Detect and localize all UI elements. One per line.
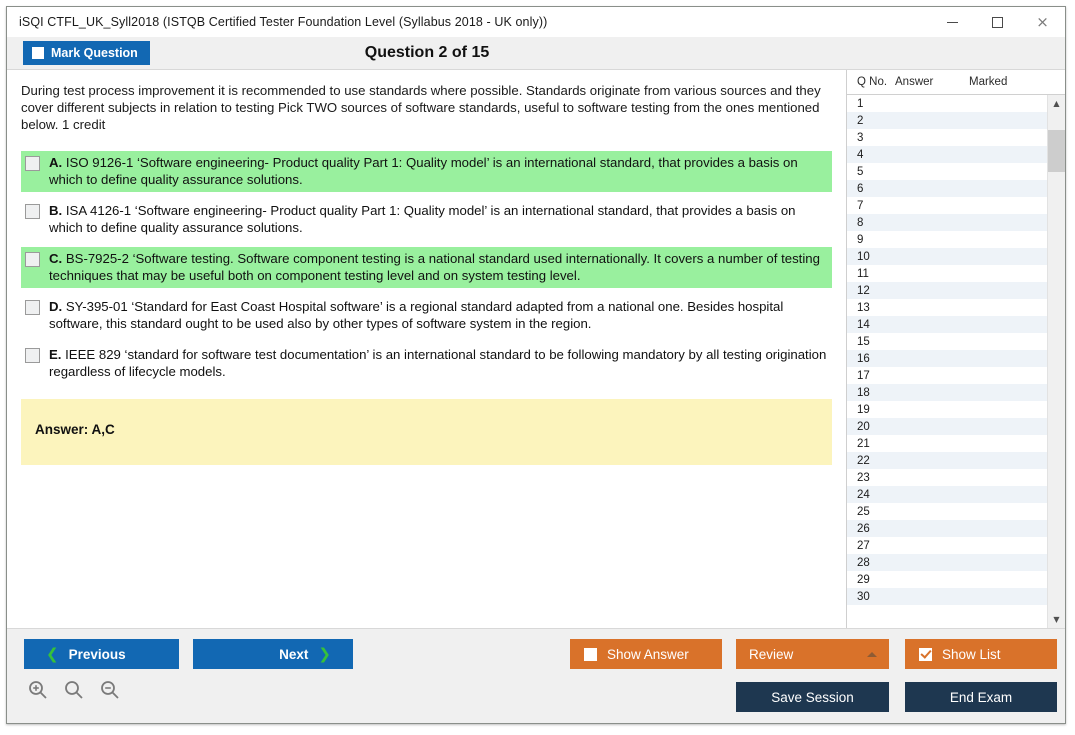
save-session-label: Save Session bbox=[771, 690, 854, 705]
option-a-body: ISO 9126-1 ‘Software engineering- Produc… bbox=[49, 155, 798, 187]
table-row[interactable]: 19 bbox=[847, 401, 1047, 418]
option-e[interactable]: E. IEEE 829 ‘standard for software test … bbox=[21, 343, 832, 384]
scroll-up-arrow-icon[interactable]: ▲ bbox=[1048, 95, 1065, 112]
show-answer-button[interactable]: Show Answer bbox=[570, 639, 722, 669]
table-row[interactable]: 24 bbox=[847, 486, 1047, 503]
cell-question-number: 16 bbox=[847, 353, 895, 365]
table-row[interactable]: 29 bbox=[847, 571, 1047, 588]
cell-question-number: 13 bbox=[847, 302, 895, 314]
show-list-button[interactable]: Show List bbox=[905, 639, 1057, 669]
exam-window: iSQI CTFL_UK_Syll2018 (ISTQB Certified T… bbox=[6, 6, 1066, 724]
question-list-scroll-area: 1234567891011121314151617181920212223242… bbox=[847, 95, 1065, 628]
show-answer-checkbox-icon bbox=[584, 648, 597, 661]
table-row[interactable]: 5 bbox=[847, 163, 1047, 180]
option-b[interactable]: B. ISA 4126-1 ‘Software engineering- Pro… bbox=[21, 199, 832, 240]
cell-question-number: 6 bbox=[847, 183, 895, 195]
option-a[interactable]: A. ISO 9126-1 ‘Software engineering- Pro… bbox=[21, 151, 832, 192]
zoom-tools bbox=[25, 677, 123, 703]
close-glyph: × bbox=[1036, 15, 1049, 30]
cell-question-number: 11 bbox=[847, 268, 895, 280]
cell-question-number: 14 bbox=[847, 319, 895, 331]
table-row[interactable]: 11 bbox=[847, 265, 1047, 282]
question-header-bar: Mark Question Question 2 of 15 bbox=[7, 37, 1065, 69]
page-title: Question 2 of 15 bbox=[7, 44, 1065, 62]
option-c-text: C. BS-7925-2 ‘Software testing. Software… bbox=[49, 250, 828, 284]
question-list-scrollbar[interactable]: ▲ ▼ bbox=[1047, 95, 1065, 628]
show-list-checkbox-icon bbox=[919, 648, 932, 661]
previous-button[interactable]: ❮ Previous bbox=[24, 639, 179, 669]
cell-question-number: 12 bbox=[847, 285, 895, 297]
option-e-text: E. IEEE 829 ‘standard for software test … bbox=[49, 346, 828, 380]
body-area: During test process improvement it is re… bbox=[7, 69, 1065, 628]
cell-question-number: 29 bbox=[847, 574, 895, 586]
option-e-letter: E. bbox=[49, 347, 61, 362]
close-icon[interactable]: × bbox=[1020, 7, 1065, 37]
table-row[interactable]: 18 bbox=[847, 384, 1047, 401]
column-header-marked: Marked bbox=[969, 76, 1065, 88]
option-b-checkbox[interactable] bbox=[25, 204, 40, 219]
question-list-rows: 1234567891011121314151617181920212223242… bbox=[847, 95, 1047, 628]
table-row[interactable]: 21 bbox=[847, 435, 1047, 452]
question-content-pane: During test process improvement it is re… bbox=[7, 70, 846, 628]
table-row[interactable]: 25 bbox=[847, 503, 1047, 520]
column-header-answer: Answer bbox=[895, 76, 969, 88]
cell-question-number: 20 bbox=[847, 421, 895, 433]
option-d-letter: D. bbox=[49, 299, 62, 314]
option-d[interactable]: D. SY-395-01 ‘Standard for East Coast Ho… bbox=[21, 295, 832, 336]
table-row[interactable]: 12 bbox=[847, 282, 1047, 299]
table-row[interactable]: 3 bbox=[847, 129, 1047, 146]
option-c-letter: C. bbox=[49, 251, 62, 266]
minimize-icon[interactable] bbox=[930, 7, 975, 37]
table-row[interactable]: 23 bbox=[847, 469, 1047, 486]
zoom-reset-icon[interactable] bbox=[61, 677, 87, 703]
cell-question-number: 9 bbox=[847, 234, 895, 246]
cell-question-number: 2 bbox=[847, 115, 895, 127]
table-row[interactable]: 2 bbox=[847, 112, 1047, 129]
table-row[interactable]: 10 bbox=[847, 248, 1047, 265]
option-b-letter: B. bbox=[49, 203, 62, 218]
table-row[interactable]: 7 bbox=[847, 197, 1047, 214]
cell-question-number: 24 bbox=[847, 489, 895, 501]
question-list-panel: Q No. Answer Marked 12345678910111213141… bbox=[846, 70, 1065, 628]
table-row[interactable]: 27 bbox=[847, 537, 1047, 554]
table-row[interactable]: 9 bbox=[847, 231, 1047, 248]
table-row[interactable]: 16 bbox=[847, 350, 1047, 367]
option-e-body: IEEE 829 ‘standard for software test doc… bbox=[49, 347, 826, 379]
end-exam-label: End Exam bbox=[950, 690, 1012, 705]
chevron-left-icon: ❮ bbox=[46, 647, 59, 662]
answer-reveal-box: Answer: A,C bbox=[21, 399, 832, 465]
scroll-down-arrow-icon[interactable]: ▼ bbox=[1048, 611, 1065, 628]
footer-toolbar: ❮ Previous Next ❯ Show Answer Review Sho… bbox=[7, 628, 1065, 723]
scrollbar-track[interactable] bbox=[1048, 112, 1065, 611]
cell-question-number: 3 bbox=[847, 132, 895, 144]
cell-question-number: 1 bbox=[847, 98, 895, 110]
review-label: Review bbox=[749, 647, 793, 662]
table-row[interactable]: 26 bbox=[847, 520, 1047, 537]
chevron-right-icon: ❯ bbox=[318, 647, 331, 662]
cell-question-number: 8 bbox=[847, 217, 895, 229]
cell-question-number: 26 bbox=[847, 523, 895, 535]
next-label: Next bbox=[279, 647, 308, 662]
mark-question-button[interactable]: Mark Question bbox=[23, 41, 150, 65]
cell-question-number: 18 bbox=[847, 387, 895, 399]
option-c[interactable]: C. BS-7925-2 ‘Software testing. Software… bbox=[21, 247, 832, 288]
option-b-body: ISA 4126-1 ‘Software engineering- Produc… bbox=[49, 203, 796, 235]
option-d-body: SY-395-01 ‘Standard for East Coast Hospi… bbox=[49, 299, 783, 331]
cell-question-number: 15 bbox=[847, 336, 895, 348]
option-d-text: D. SY-395-01 ‘Standard for East Coast Ho… bbox=[49, 298, 828, 332]
table-row[interactable]: 8 bbox=[847, 214, 1047, 231]
cell-question-number: 22 bbox=[847, 455, 895, 467]
maximize-icon[interactable] bbox=[975, 7, 1020, 37]
cell-question-number: 23 bbox=[847, 472, 895, 484]
window-controls: × bbox=[930, 7, 1065, 37]
end-exam-button[interactable]: End Exam bbox=[905, 682, 1057, 712]
zoom-out-icon[interactable] bbox=[97, 677, 123, 703]
table-row[interactable]: 4 bbox=[847, 146, 1047, 163]
column-header-qno: Q No. bbox=[847, 76, 895, 88]
scrollbar-thumb[interactable] bbox=[1048, 130, 1065, 172]
cell-question-number: 21 bbox=[847, 438, 895, 450]
mark-question-checkbox-icon bbox=[32, 47, 44, 59]
cell-question-number: 5 bbox=[847, 166, 895, 178]
answer-options-list: A. ISO 9126-1 ‘Software engineering- Pro… bbox=[21, 151, 832, 384]
mark-question-label: Mark Question bbox=[51, 46, 138, 60]
table-row[interactable]: 17 bbox=[847, 367, 1047, 384]
exam-application: iSQI CTFL_UK_Syll2018 (ISTQB Certified T… bbox=[0, 0, 1075, 735]
question-stem: During test process improvement it is re… bbox=[21, 82, 832, 133]
table-row[interactable]: 14 bbox=[847, 316, 1047, 333]
cell-question-number: 30 bbox=[847, 591, 895, 603]
show-answer-label: Show Answer bbox=[607, 647, 689, 662]
show-list-label: Show List bbox=[942, 647, 1001, 662]
option-c-checkbox[interactable] bbox=[25, 252, 40, 267]
cell-question-number: 19 bbox=[847, 404, 895, 416]
option-d-checkbox[interactable] bbox=[25, 300, 40, 315]
table-row[interactable]: 6 bbox=[847, 180, 1047, 197]
zoom-in-icon[interactable] bbox=[25, 677, 51, 703]
option-c-body: BS-7925-2 ‘Software testing. Software co… bbox=[49, 251, 820, 283]
cell-question-number: 28 bbox=[847, 557, 895, 569]
question-list-header: Q No. Answer Marked bbox=[847, 70, 1065, 95]
cell-question-number: 17 bbox=[847, 370, 895, 382]
option-e-checkbox[interactable] bbox=[25, 348, 40, 363]
cell-question-number: 7 bbox=[847, 200, 895, 212]
table-row[interactable]: 28 bbox=[847, 554, 1047, 571]
option-b-text: B. ISA 4126-1 ‘Software engineering- Pro… bbox=[49, 202, 828, 236]
table-row[interactable]: 13 bbox=[847, 299, 1047, 316]
cell-question-number: 25 bbox=[847, 506, 895, 518]
previous-label: Previous bbox=[69, 647, 126, 662]
table-row[interactable]: 30 bbox=[847, 588, 1047, 605]
table-row[interactable]: 22 bbox=[847, 452, 1047, 469]
window-title: iSQI CTFL_UK_Syll2018 (ISTQB Certified T… bbox=[7, 15, 547, 29]
cell-question-number: 4 bbox=[847, 149, 895, 161]
review-dropdown[interactable]: Review bbox=[736, 639, 889, 669]
option-a-checkbox[interactable] bbox=[25, 156, 40, 171]
table-row[interactable]: 15 bbox=[847, 333, 1047, 350]
option-a-letter: A. bbox=[49, 155, 62, 170]
table-row[interactable]: 1 bbox=[847, 95, 1047, 112]
next-button[interactable]: Next ❯ bbox=[193, 639, 353, 669]
answer-text: Answer: A,C bbox=[35, 422, 115, 437]
option-a-text: A. ISO 9126-1 ‘Software engineering- Pro… bbox=[49, 154, 828, 188]
cell-question-number: 10 bbox=[847, 251, 895, 263]
title-bar: iSQI CTFL_UK_Syll2018 (ISTQB Certified T… bbox=[7, 7, 1065, 37]
table-row[interactable]: 20 bbox=[847, 418, 1047, 435]
cell-question-number: 27 bbox=[847, 540, 895, 552]
save-session-button[interactable]: Save Session bbox=[736, 682, 889, 712]
chevron-up-icon bbox=[867, 652, 877, 657]
